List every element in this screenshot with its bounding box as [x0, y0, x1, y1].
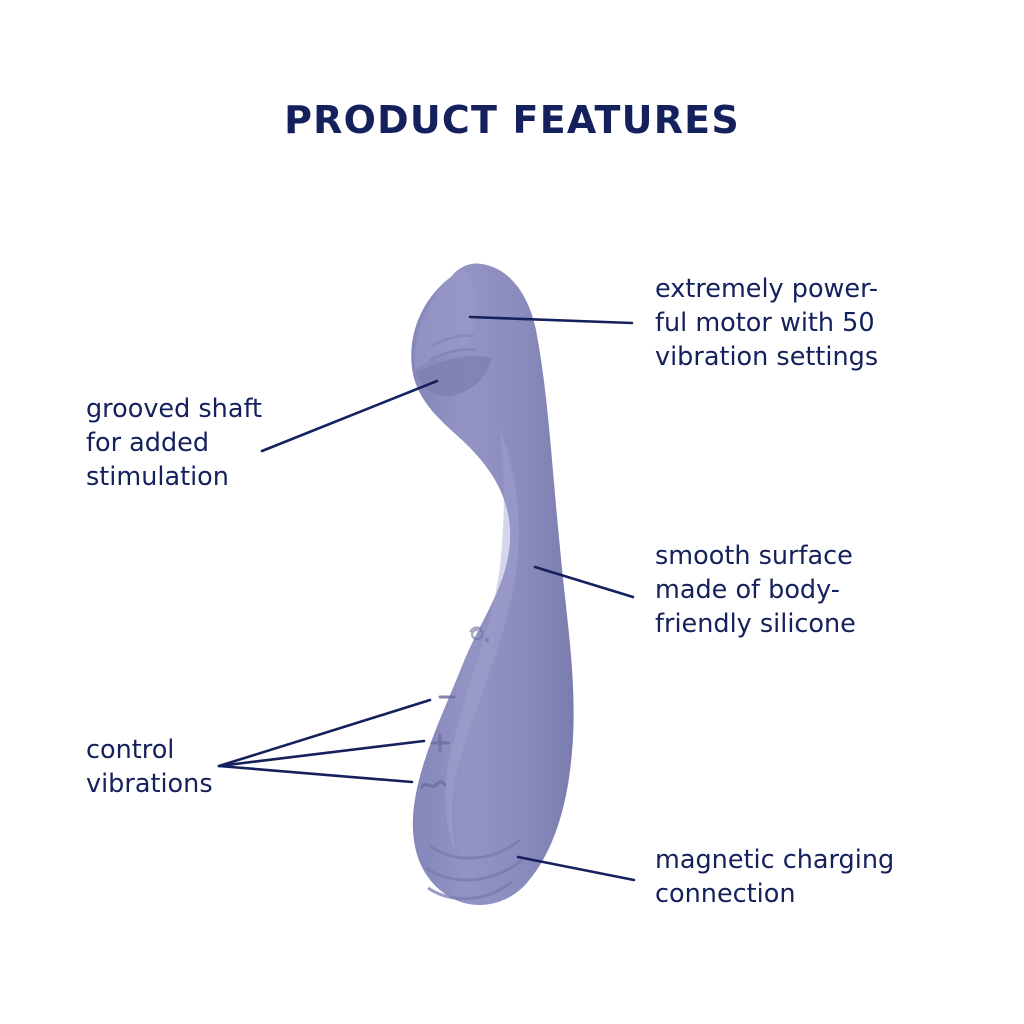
callout-smooth-surface: smooth surface made of body- friendly si… [655, 539, 856, 641]
callout-power-line-3: vibration settings [655, 340, 878, 374]
callout-control-line-1: control [86, 733, 213, 767]
callout-shaft-line-3: stimulation [86, 460, 262, 494]
leader-control-2 [219, 741, 424, 766]
callout-magnet-line-1: magnetic charging [655, 843, 894, 877]
callout-magnetic-charging: magnetic charging connection [655, 843, 894, 911]
callout-power-line-1: extremely power- [655, 272, 878, 306]
leader-control-3 [219, 766, 412, 782]
callout-smooth-line-3: friendly silicone [655, 607, 856, 641]
callout-shaft-line-2: for added [86, 426, 262, 460]
callout-control-vibrations: control vibrations [86, 733, 213, 801]
callout-power: extremely power- ful motor with 50 vibra… [655, 272, 878, 374]
callout-control-line-2: vibrations [86, 767, 213, 801]
callout-shaft-line-1: grooved shaft [86, 392, 262, 426]
leader-control-1 [219, 700, 430, 766]
callout-magnet-line-2: connection [655, 877, 894, 911]
callout-smooth-line-2: made of body- [655, 573, 856, 607]
device-body [411, 264, 573, 905]
callout-smooth-line-1: smooth surface [655, 539, 856, 573]
product-features-infographic: PRODUCT FEATURES [0, 0, 1024, 1024]
callout-grooved-shaft: grooved shaft for added stimulation [86, 392, 262, 494]
callout-power-line-2: ful motor with 50 [655, 306, 878, 340]
leader-grooved-shaft [262, 381, 437, 451]
